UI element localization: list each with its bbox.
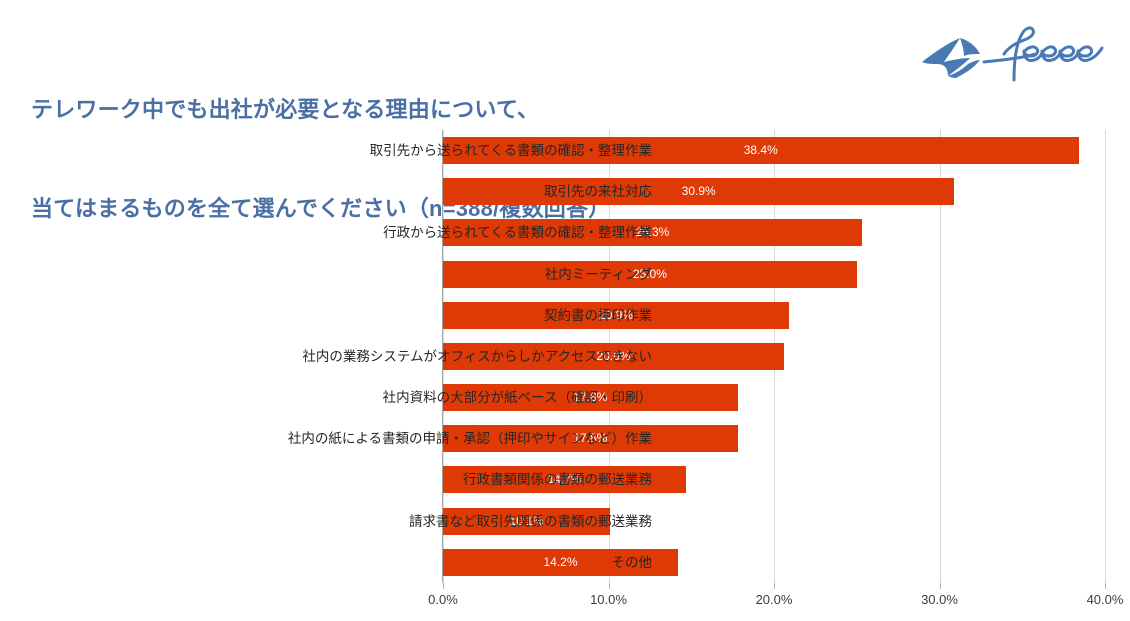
swallow-icon: [922, 38, 980, 78]
x-tick: [774, 583, 775, 589]
freee-logo: [918, 18, 1108, 84]
category-label: 契約書の押印作業: [544, 302, 652, 329]
gridline-40.0%: [1105, 130, 1106, 583]
plot-area: 0.0%10.0%20.0%30.0%40.0% 38.4%取引先から送られてく…: [443, 130, 1105, 583]
bar-row: 20.6%社内の業務システムがオフィスからしかアクセスできない: [443, 336, 1105, 377]
category-label: 取引先の来社対応: [544, 178, 652, 205]
x-tick: [1105, 583, 1106, 589]
bar-value-label: 30.9%: [443, 178, 954, 205]
x-tick-label: 30.0%: [921, 592, 958, 607]
x-tick-label: 20.0%: [756, 592, 793, 607]
bar-row: 14.7%行政書類関係の書類の郵送業務: [443, 459, 1105, 500]
x-tick-label: 10.0%: [590, 592, 627, 607]
bar-row: 25.3%行政から送られてくる書類の確認・整理作業: [443, 212, 1105, 253]
category-label: 社内の業務システムがオフィスからしかアクセスできない: [302, 343, 652, 370]
category-label: 行政書類関係の書類の郵送業務: [463, 466, 652, 493]
x-tick: [940, 583, 941, 589]
bar-chart: 0.0%10.0%20.0%30.0%40.0% 38.4%取引先から送られてく…: [0, 118, 1130, 621]
bar-row: 20.9%契約書の押印作業: [443, 295, 1105, 336]
chart-header: テレワーク中でも出社が必要となる理由について、 当てはまるものを全て選んでくださ…: [0, 0, 1130, 118]
category-label: その他: [612, 549, 653, 576]
category-label: 社内資料の大部分が紙ベース（確認・印刷）: [383, 384, 652, 411]
bar-row: 25.0%社内ミーティング: [443, 254, 1105, 295]
x-tick-label: 40.0%: [1087, 592, 1124, 607]
category-label: 社内ミーティング: [545, 261, 652, 288]
bar-row: 38.4%取引先から送られてくる書類の確認・整理作業: [443, 130, 1105, 171]
bar-row: 17.8%社内の紙による書類の申請・承認（押印やサインなど）作業: [443, 418, 1105, 459]
freee-wordmark: [984, 28, 1102, 80]
category-label: 取引先から送られてくる書類の確認・整理作業: [370, 137, 652, 164]
category-label: 社内の紙による書類の申請・承認（押印やサインなど）作業: [288, 425, 652, 452]
bar-row: 14.2%その他: [443, 542, 1105, 583]
bar-row: 30.9%取引先の来社対応: [443, 171, 1105, 212]
x-tick: [443, 583, 444, 589]
x-tick-label: 0.0%: [428, 592, 458, 607]
category-label: 行政から送られてくる書類の確認・整理作業: [383, 219, 652, 246]
x-tick: [609, 583, 610, 589]
bar-row: 10.1%請求書など取引先関係の書類の郵送業務: [443, 501, 1105, 542]
category-label: 請求書など取引先関係の書類の郵送業務: [409, 508, 652, 535]
bar-row: 17.8%社内資料の大部分が紙ベース（確認・印刷）: [443, 377, 1105, 418]
